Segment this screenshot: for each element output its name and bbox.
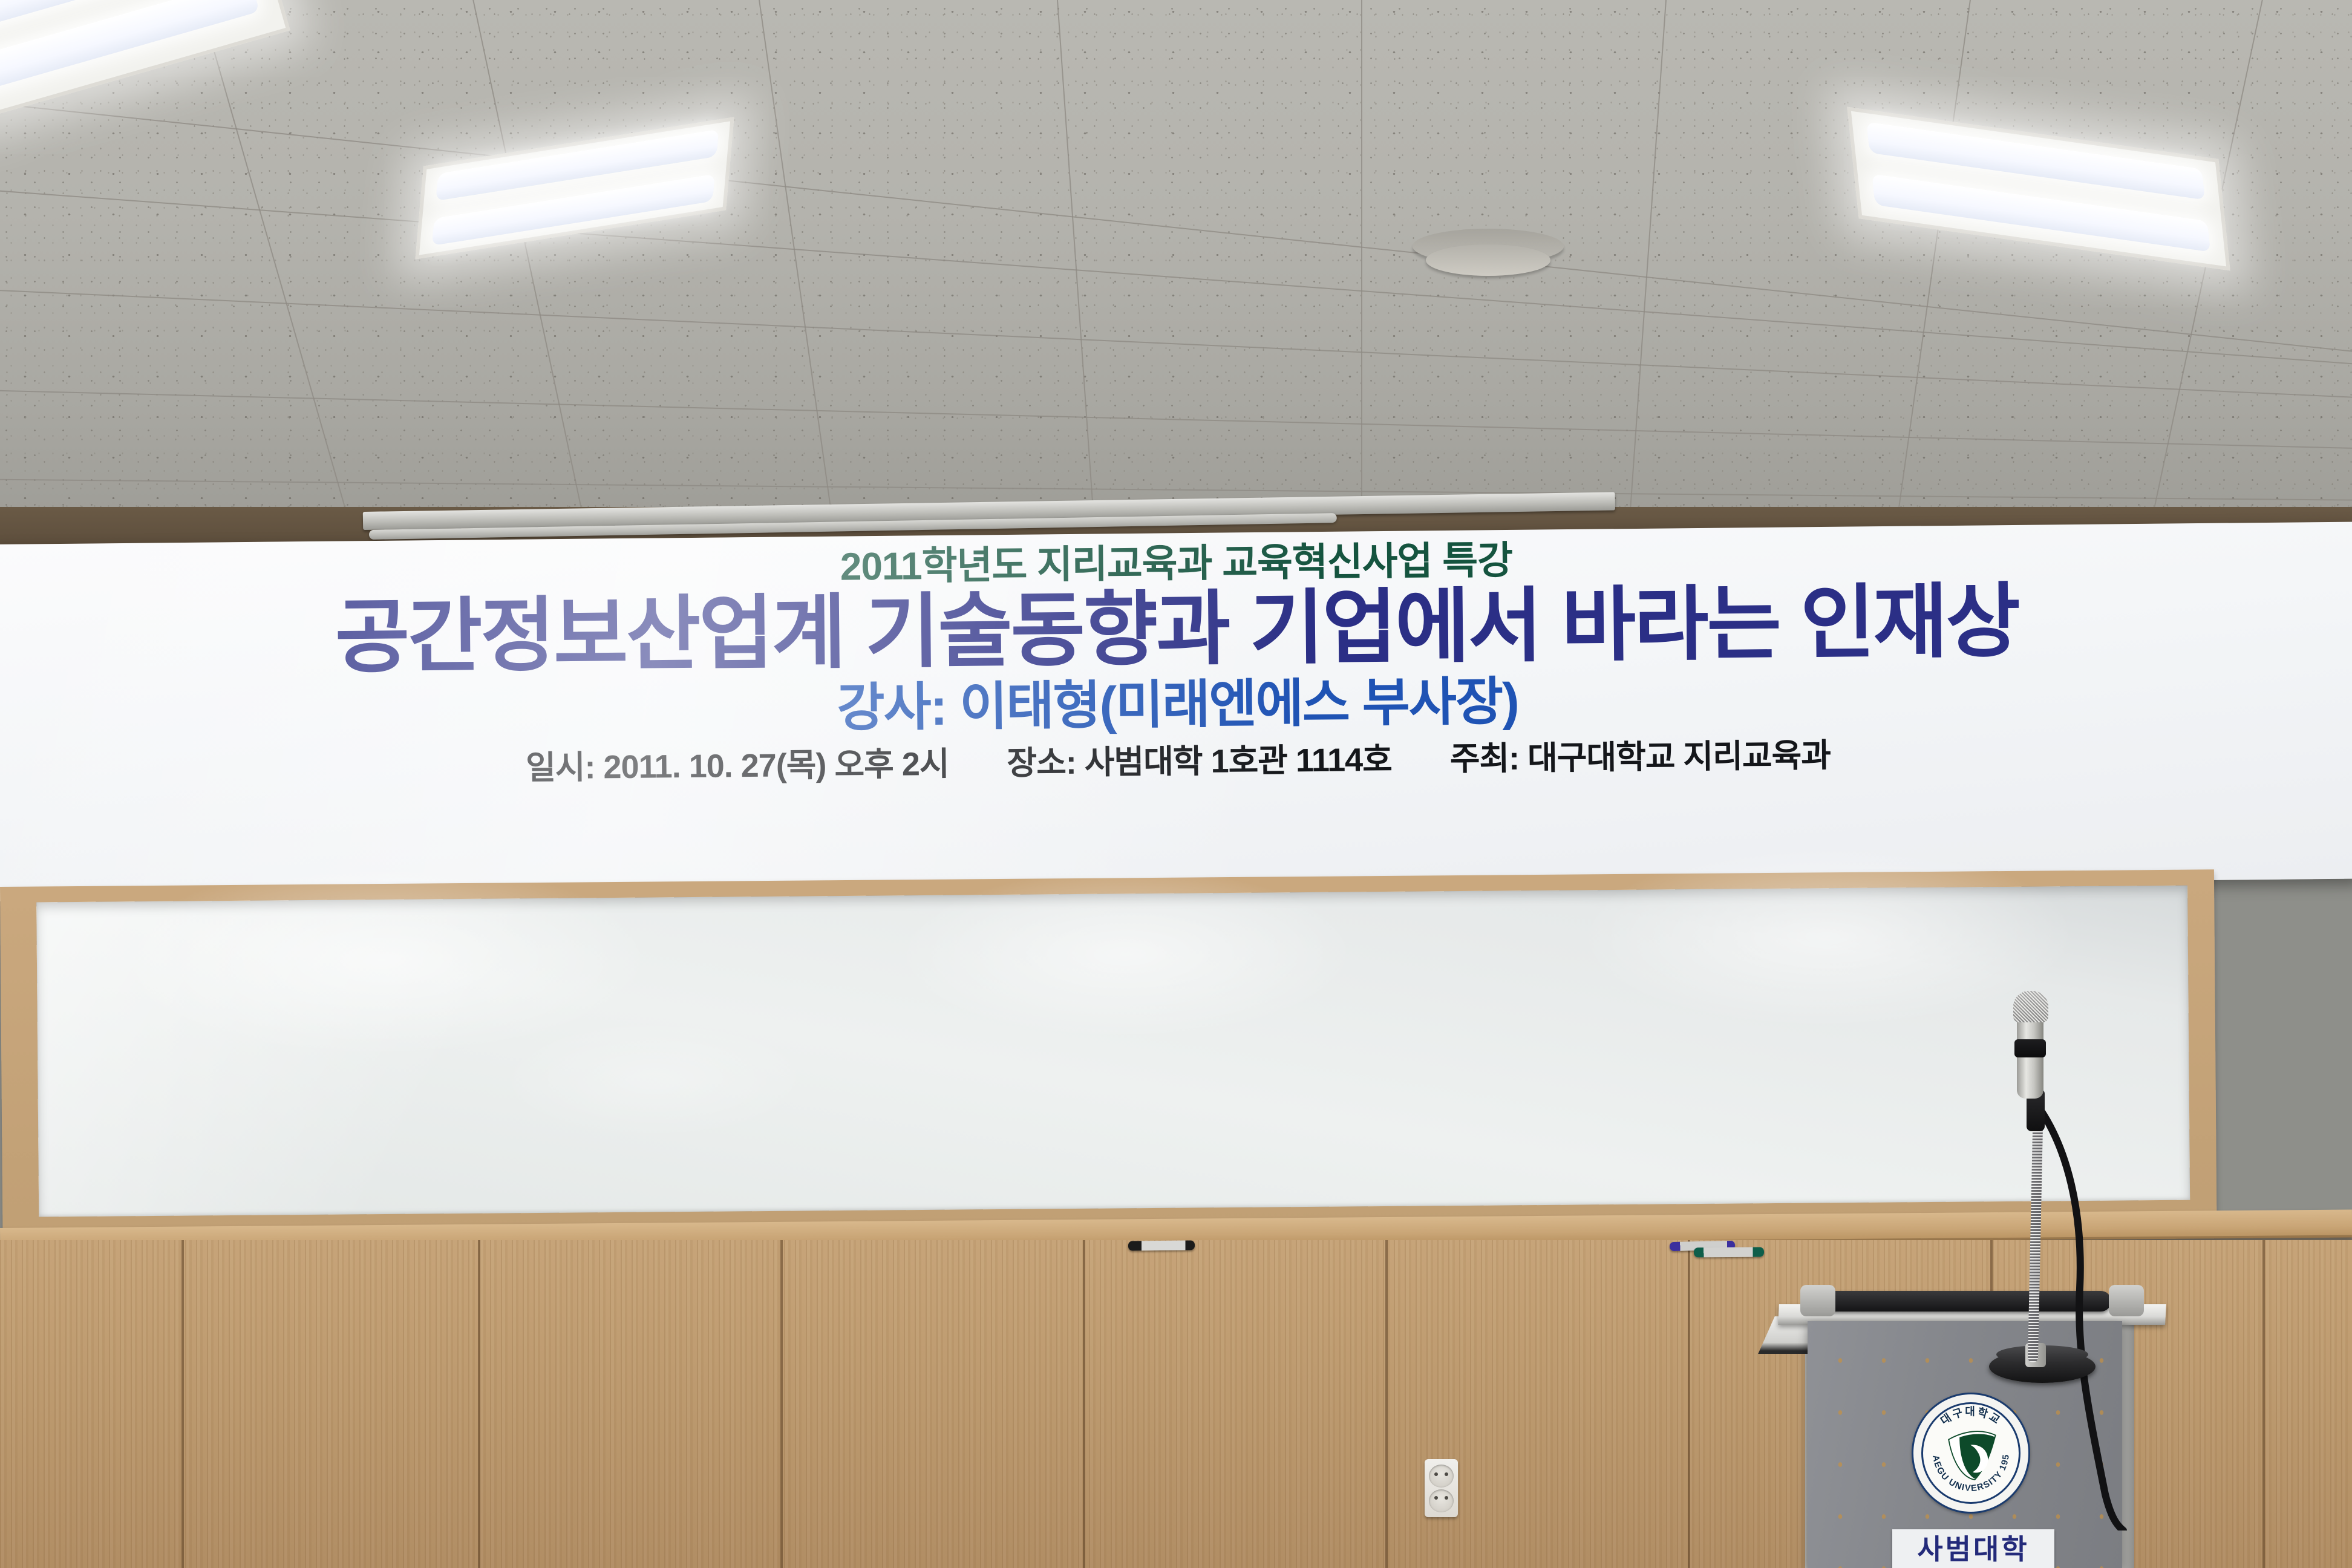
whiteboard-glare (497, 1017, 813, 1140)
podium-grip-bar[interactable] (1821, 1291, 2111, 1312)
wall-panel-seam (1083, 1240, 1085, 1568)
outlet-socket-lower (1429, 1489, 1454, 1512)
banner-info-location: 장소: 사범대학 1호관 1114호 (1007, 743, 1392, 780)
wall-panel-seam (1385, 1240, 1388, 1568)
outlet-pin-hole (1434, 1496, 1438, 1500)
banner-info-datetime: 일시: 2011. 10. 27(목) 오후 2시 (526, 748, 949, 785)
whiteboard-marker-green[interactable] (1694, 1247, 1764, 1258)
podium-bar-cap-right (2109, 1285, 2144, 1316)
wall-panel-seam (181, 1240, 184, 1568)
lecture-room-photo: 2011학년도 지리교육과 교육혁신사업 특강 공간정보산업계 기술동향과 기업… (0, 0, 2352, 1568)
wall-panel-seam (2262, 1240, 2265, 1568)
podium-bar-cap-left (1800, 1285, 1835, 1316)
outlet-pin-hole (1445, 1472, 1448, 1476)
podium: 대구대학교 DAEGU UNIVERSITY 1956 사범대학 (1779, 1282, 2166, 1568)
outlet-pin-hole (1434, 1472, 1438, 1476)
diffuser-ring-inner (1426, 244, 1550, 276)
podium-department-plate: 사범대학 (1892, 1529, 2054, 1568)
banner-eyebrow-line: 2011학년도 지리교육과 교육혁신사업 특강 (840, 541, 1512, 586)
microphone-ring (2014, 1039, 2046, 1057)
whiteboard-frame (0, 869, 2217, 1250)
podium-plate-label: 사범대학 (1917, 1535, 2029, 1563)
whiteboard-glare (895, 867, 1356, 1040)
ceiling-grid-line (1361, 0, 1362, 532)
outlet-pin-hole (1445, 1496, 1448, 1500)
whiteboard-surface (36, 886, 2190, 1217)
event-banner: 2011학년도 지리교육과 교육혁신사업 특강 공간정보산업계 기술동향과 기업… (0, 522, 2352, 901)
ceiling-air-diffuser-icon (1413, 229, 1564, 277)
wall-panel-seam (1688, 1240, 1690, 1568)
whiteboard-glare (109, 861, 655, 1059)
daegu-university-seal-icon: 대구대학교 DAEGU UNIVERSITY 1956 (1912, 1393, 2030, 1514)
wall-power-outlet[interactable] (1425, 1459, 1458, 1517)
whiteboard-marker-black[interactable] (1128, 1240, 1195, 1250)
outlet-socket-upper (1429, 1465, 1454, 1488)
ceiling-speckle-texture (0, 0, 2352, 532)
wall-panel-seam (780, 1240, 783, 1568)
microphone-head-grille (2013, 991, 2048, 1022)
seal-inner-ring (1921, 1402, 2020, 1504)
seal-emblem-mark (1939, 1420, 2004, 1488)
ceiling (0, 0, 2352, 532)
podium-post-right (2121, 1301, 2134, 1568)
wall-panel-seam (478, 1240, 480, 1568)
banner-info-row: 일시: 2011. 10. 27(목) 오후 2시 장소: 사범대학 1호관 1… (526, 739, 1831, 785)
banner-speaker-line: 강사: 이태형(미래엔에스 부사장) (837, 676, 1518, 734)
banner-info-organizer: 주최: 대구대학교 지리교육과 (1450, 739, 1831, 776)
banner-title: 공간정보산업계 기술동향과 기업에서 바라는 인재상 (335, 580, 2019, 681)
